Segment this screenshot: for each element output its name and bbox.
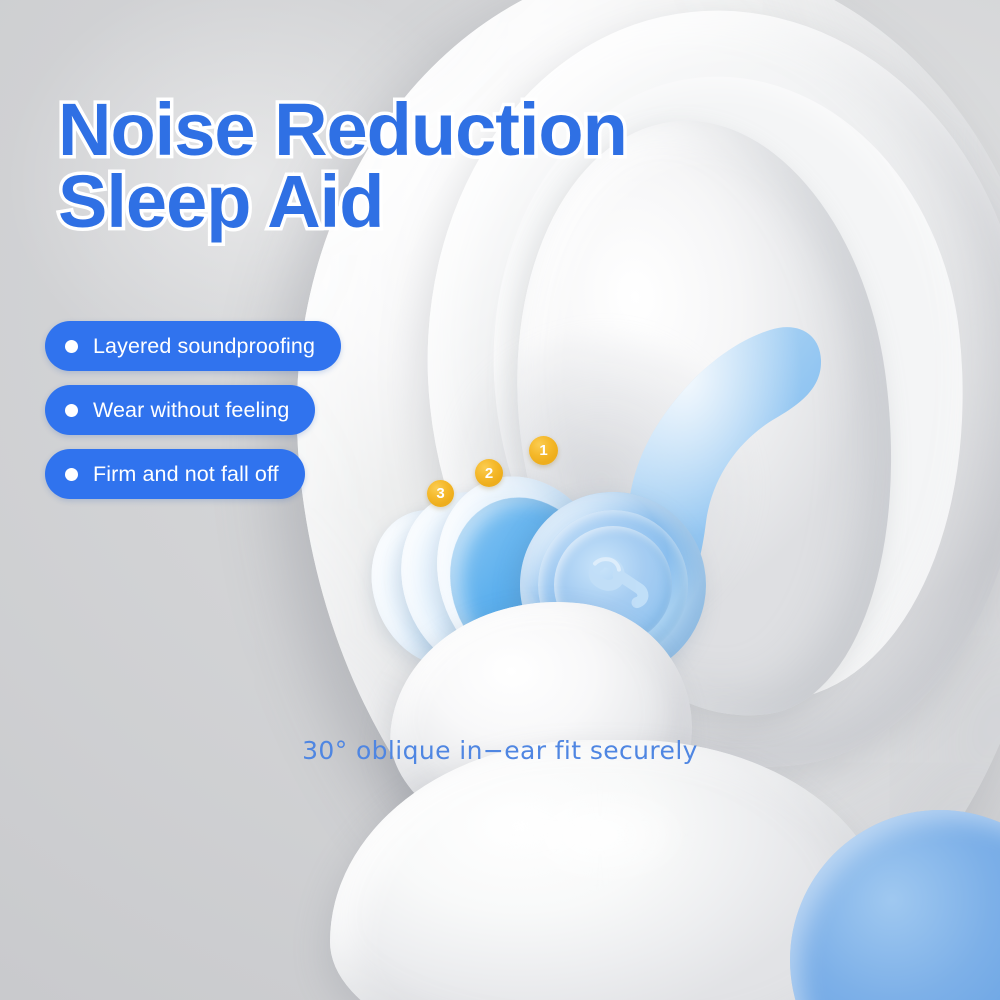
feature-label: Firm and not fall off xyxy=(93,462,279,487)
product-poster: Noise Reduction Sleep Aid Layered soundp… xyxy=(0,0,1000,1000)
bullet-dot-icon xyxy=(65,340,78,353)
feature-label: Wear without feeling xyxy=(93,398,289,423)
feature-pill-1: Layered soundproofing xyxy=(45,321,341,371)
callout-badge-1: 1 xyxy=(529,436,558,465)
feature-pill-3: Firm and not fall off xyxy=(45,449,305,499)
ear-lobe-highlight xyxy=(470,760,730,910)
bullet-dot-icon xyxy=(65,468,78,481)
callout-badge-2: 2 xyxy=(475,459,503,487)
bullet-dot-icon xyxy=(65,404,78,417)
callout-badge-3: 3 xyxy=(427,480,454,507)
feature-label: Layered soundproofing xyxy=(93,334,315,359)
feature-pill-2: Wear without feeling xyxy=(45,385,315,435)
page-title: Noise Reduction Sleep Aid xyxy=(58,94,698,239)
fit-caption: 30° oblique in−ear fit securely xyxy=(0,736,1000,765)
feature-list: Layered soundproofing Wear without feeli… xyxy=(45,321,341,513)
